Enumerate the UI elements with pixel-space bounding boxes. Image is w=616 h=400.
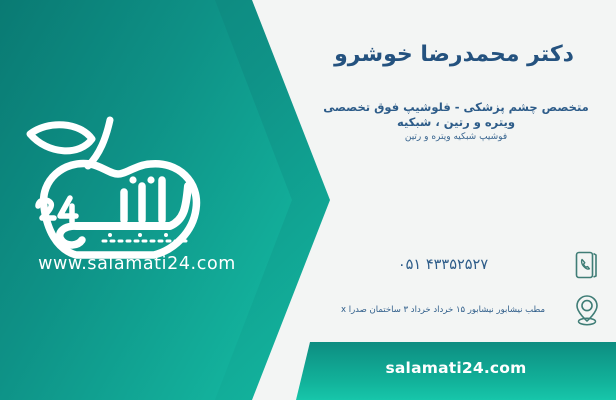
clinic-address[interactable]: مطب نیشابور نیشابور ۱۵ خرداد خرداد ۳ ساخ… — [310, 304, 570, 316]
address-row: مطب نیشابور نیشابور ۱۵ خرداد خرداد ۳ ساخ… — [310, 290, 604, 330]
specialty-block: متخصص چشم پزشکی - فلوشیپ فوق تخصصی ویتره… — [308, 100, 604, 144]
specialty-line-1: متخصص چشم پزشکی - فلوشیپ فوق تخصصی — [308, 100, 604, 115]
specialty-line-2: ویتره و رتین ، شبکیه — [308, 115, 604, 130]
location-pin-icon — [570, 293, 604, 327]
logo-website-url: www.salamati24.com — [22, 254, 252, 274]
phone-book-icon — [570, 248, 604, 282]
phone-row: ۴۳۳۵۲۵۲۷ ۰۵۱ — [310, 248, 604, 282]
doctor-name: دکتر محمدرضا خوشرو — [310, 42, 598, 67]
phone-number[interactable]: ۴۳۳۵۲۵۲۷ ۰۵۱ — [310, 257, 570, 273]
footer-bar: salamati24.com — [296, 342, 616, 400]
specialty-line-3: فوشیپ شبکیه ویتره و رتین — [308, 130, 604, 144]
business-card: www.salamati24.com دکتر محمدرضا خوشرو مت… — [0, 0, 616, 400]
footer-website[interactable]: salamati24.com — [296, 359, 616, 377]
brand-logo: www.salamati24.com — [14, 108, 254, 288]
card-content: دکتر محمدرضا خوشرو متخصص چشم پزشکی - فلو… — [300, 0, 616, 400]
